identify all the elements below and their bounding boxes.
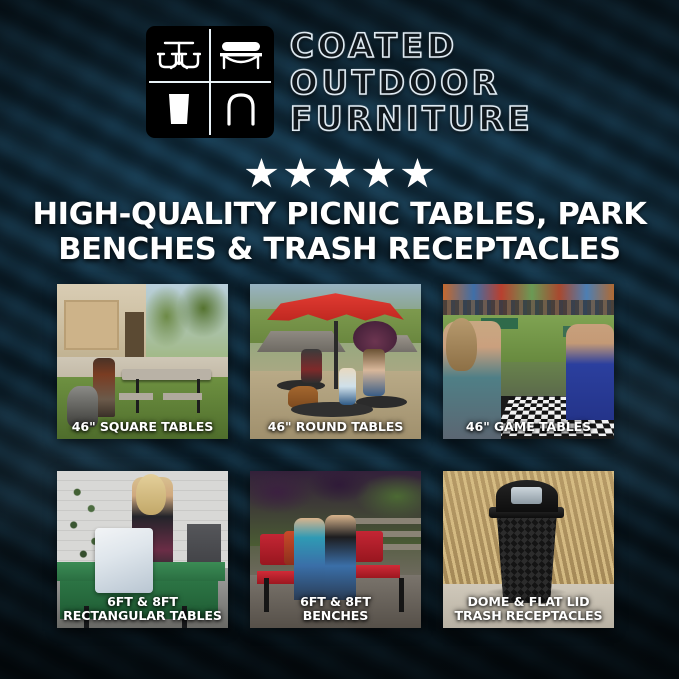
- headline-line-2: BENCHES & TRASH RECEPTACLES: [22, 233, 657, 268]
- bike-rack-icon: [210, 82, 271, 135]
- caption-line: TRASH RECEPTACLES: [447, 609, 610, 623]
- headline-line-1: HIGH-QUALITY PICNIC TABLES, PARK: [22, 198, 657, 233]
- star-icon-4: [363, 158, 395, 189]
- product-card-game-tables[interactable]: 46" GAME TABLES: [443, 284, 614, 439]
- logo-wordmark: COATED OUTDOOR FURNITURE: [290, 26, 533, 137]
- product-photo-round-tables: [250, 284, 421, 439]
- product-caption-trash-receptacles: DOME & FLAT LID TRASH RECEPTACLES: [443, 595, 614, 623]
- product-caption-game-tables: 46" GAME TABLES: [443, 420, 614, 434]
- picnic-table-icon: [149, 29, 210, 82]
- caption-line: RECTANGULAR TABLES: [61, 609, 224, 623]
- trash-receptacle-icon: [149, 82, 210, 135]
- product-grid: 46" SQUARE TABLES 46" ROUND TABLES: [57, 284, 622, 628]
- star-icon-3: [324, 158, 356, 189]
- bench-icon: [210, 29, 271, 82]
- caption-line: BENCHES: [254, 609, 417, 623]
- promo-banner: COATED OUTDOOR FURNITURE HIGH-QUALITY PI…: [0, 0, 679, 679]
- product-caption-benches: 6FT & 8FT BENCHES: [250, 595, 421, 623]
- caption-line: 46" SQUARE TABLES: [61, 420, 224, 434]
- logo-line-1: COATED: [290, 28, 533, 64]
- product-card-square-tables[interactable]: 46" SQUARE TABLES: [57, 284, 228, 439]
- star-icon-1: [246, 158, 278, 189]
- product-photo-square-tables: [57, 284, 228, 439]
- product-photo-game-tables: [443, 284, 614, 439]
- product-card-benches[interactable]: 6FT & 8FT BENCHES: [250, 471, 421, 628]
- headline: HIGH-QUALITY PICNIC TABLES, PARK BENCHES…: [0, 198, 679, 268]
- product-caption-round-tables: 46" ROUND TABLES: [250, 420, 421, 434]
- product-card-round-tables[interactable]: 46" ROUND TABLES: [250, 284, 421, 439]
- product-caption-square-tables: 46" SQUARE TABLES: [57, 420, 228, 434]
- product-caption-rectangular-tables: 6FT & 8FT RECTANGULAR TABLES: [57, 595, 228, 623]
- star-rating: [0, 158, 679, 189]
- product-card-rectangular-tables[interactable]: 6FT & 8FT RECTANGULAR TABLES: [57, 471, 228, 628]
- star-icon-2: [285, 158, 317, 189]
- logo-line-3: FURNITURE: [290, 101, 533, 137]
- star-icon-5: [402, 158, 434, 189]
- logo-line-2: OUTDOOR: [290, 65, 533, 101]
- logo-icon-grid: [146, 26, 274, 138]
- caption-line: 46" ROUND TABLES: [254, 420, 417, 434]
- product-card-trash-receptacles[interactable]: DOME & FLAT LID TRASH RECEPTACLES: [443, 471, 614, 628]
- brand-logo: COATED OUTDOOR FURNITURE: [0, 26, 679, 138]
- caption-line: 46" GAME TABLES: [447, 420, 610, 434]
